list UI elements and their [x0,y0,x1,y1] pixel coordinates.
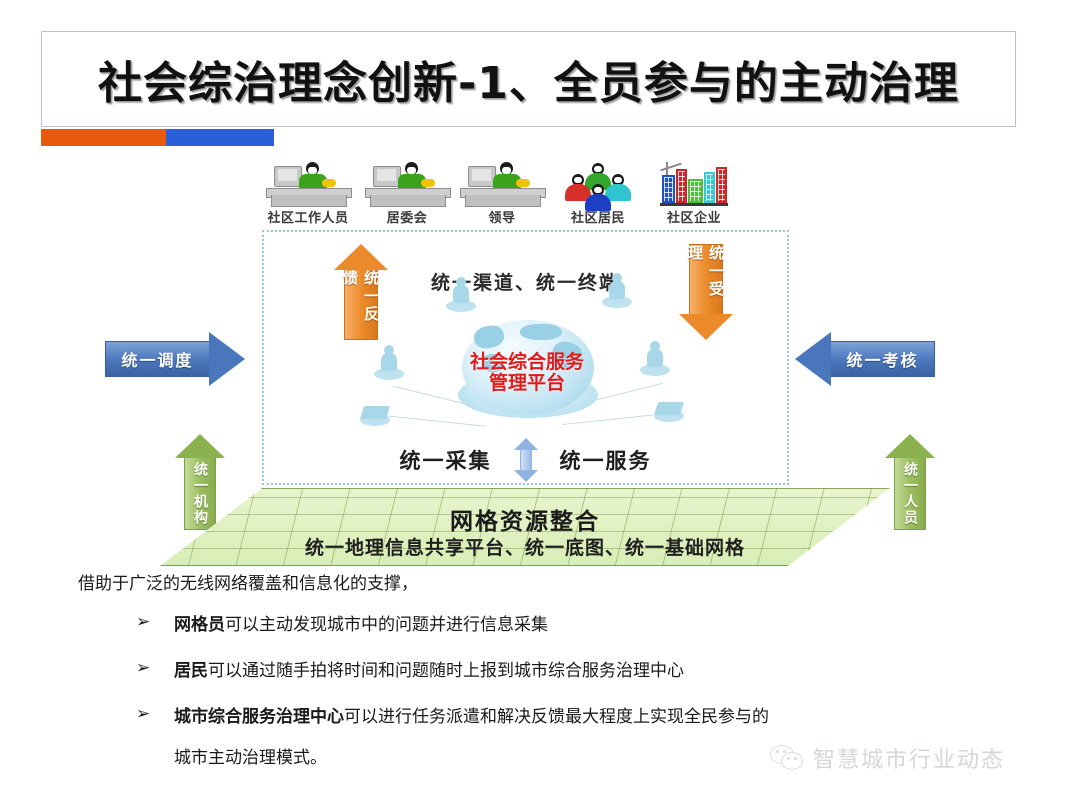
actor-row: 社区工作人员 居委会 领导 [262,162,790,234]
arrow-unified-acceptance: 统一受理 [679,244,733,340]
network-node [446,300,476,312]
accent-bar-blue [166,129,274,146]
list-item-text: 城市综合服务治理中心可以进行任务派遣和解决反馈最大程度上实现全民参与的 [174,704,769,730]
network-node [360,414,390,426]
arrow-label: 统一考核 [846,347,918,371]
actor-label: 领导 [452,207,552,226]
people-group-icon [548,162,648,207]
lead-paragraph: 借助于广泛的无线网络覆盖和信息化的支撑， [78,572,1008,598]
list-item-text: 网格员可以主动发现城市中的问题并进行信息采集 [174,612,548,638]
collect-label: 统一采集 [400,445,492,475]
actor-label: 居委会 [357,207,457,226]
list-item: ➢ 居民可以通过随手拍将时间和问题随时上报到城市综合服务治理中心 [78,658,1008,684]
arrow-label: 统一调度 [121,347,193,371]
arrow-label: 统一受理 [685,245,727,314]
slide-canvas: 社会综治理念创新-1、全员参与的主动治理 社区工作人员 [0,0,1080,810]
actor-leadership: 领导 [452,162,552,226]
arrow-label: 统一人员 [900,462,920,526]
platform-title: 网格资源整合 [160,502,890,536]
bullet-marker-icon: ➢ [78,658,174,678]
list-item-rest: 可以通过随手拍将时间和问题随时上报到城市综合服务治理中心 [208,661,684,681]
watermark: 智慧城市行业动态 [770,742,1005,774]
watermark-text: 智慧城市行业动态 [813,742,1005,774]
list-item-text: 居民可以通过随手拍将时间和问题随时上报到城市综合服务治理中心 [174,658,684,684]
list-item-emphasis: 居民 [174,661,208,681]
desk-worker-icon [452,162,552,207]
desk-worker-icon [357,162,457,207]
arrow-label: 统一反馈 [340,270,382,339]
arrow-unified-personnel: 统一人员 [885,434,935,530]
service-label: 统一服务 [560,445,652,475]
actor-enterprises: 社区企业 [644,162,744,226]
network-node [374,368,404,380]
actor-neighborhood-committee: 居委会 [357,162,457,226]
accent-bar-orange [41,129,166,146]
title-box: 社会综治理念创新-1、全员参与的主动治理 [41,31,1016,127]
grid-resource-platform: 网格资源整合 统一地理信息共享平台、统一底图、统一基础网格 [160,488,890,566]
network-node [654,410,684,422]
arrow-unified-feedback: 统一反馈 [334,244,388,340]
arrow-unified-dispatch: 统一调度 [105,332,245,386]
arrow-unified-assessment: 统一考核 [795,332,935,386]
list-item-emphasis: 网格员 [174,615,225,635]
wechat-icon [770,744,804,772]
collect-service-row: 统一采集 统一服务 [262,440,789,480]
desk-worker-icon [258,162,358,207]
page-title: 社会综治理念创新-1、全员参与的主动治理 [98,47,959,111]
central-platform-label: 社会综合服务 管理平台 [402,352,652,395]
actor-community-staff: 社区工作人员 [258,162,358,226]
platform-subtitle: 统一地理信息共享平台、统一底图、统一基础网格 [160,533,890,560]
diagram-area: 社区工作人员 居委会 领导 [0,150,1080,570]
list-item-rest: 可以进行任务派遣和解决反馈最大程度上实现全民参与的 [344,707,769,727]
actor-residents: 社区居民 [548,162,648,226]
bullet-marker-icon: ➢ [78,612,174,632]
list-item-emphasis: 城市综合服务治理中心 [174,707,344,727]
list-item-rest: 可以主动发现城市中的问题并进行信息采集 [225,615,548,635]
actor-label: 社区工作人员 [258,207,358,226]
network-node [602,296,632,308]
bullet-marker-icon: ➢ [78,704,174,724]
list-item: ➢ 网格员可以主动发现城市中的问题并进行信息采集 [78,612,1008,638]
buildings-icon [644,162,744,207]
actor-label: 社区企业 [644,207,744,226]
double-arrow-icon [514,438,538,482]
list-item: ➢ 城市综合服务治理中心可以进行任务派遣和解决反馈最大程度上实现全民参与的 [78,704,1008,730]
